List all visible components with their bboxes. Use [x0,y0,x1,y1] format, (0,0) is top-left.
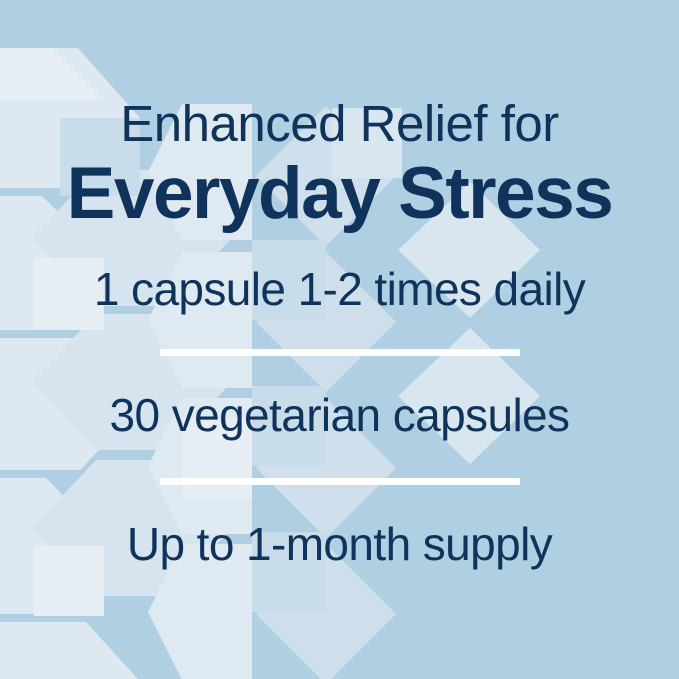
product-feature-banner: Enhanced Relief for Everyday Stress 1 ca… [0,0,679,679]
fact-dosage: 1 capsule 1-2 times daily [0,266,679,312]
divider-line-1 [160,349,520,356]
banner-content: Enhanced Relief for Everyday Stress 1 ca… [0,0,679,679]
headline-eyebrow: Enhanced Relief for [0,98,679,149]
divider-line-2 [160,478,520,485]
fact-count: 30 vegetarian capsules [0,392,679,438]
fact-supply: Up to 1-month supply [0,521,679,567]
headline-title: Everyday Stress [0,157,679,230]
